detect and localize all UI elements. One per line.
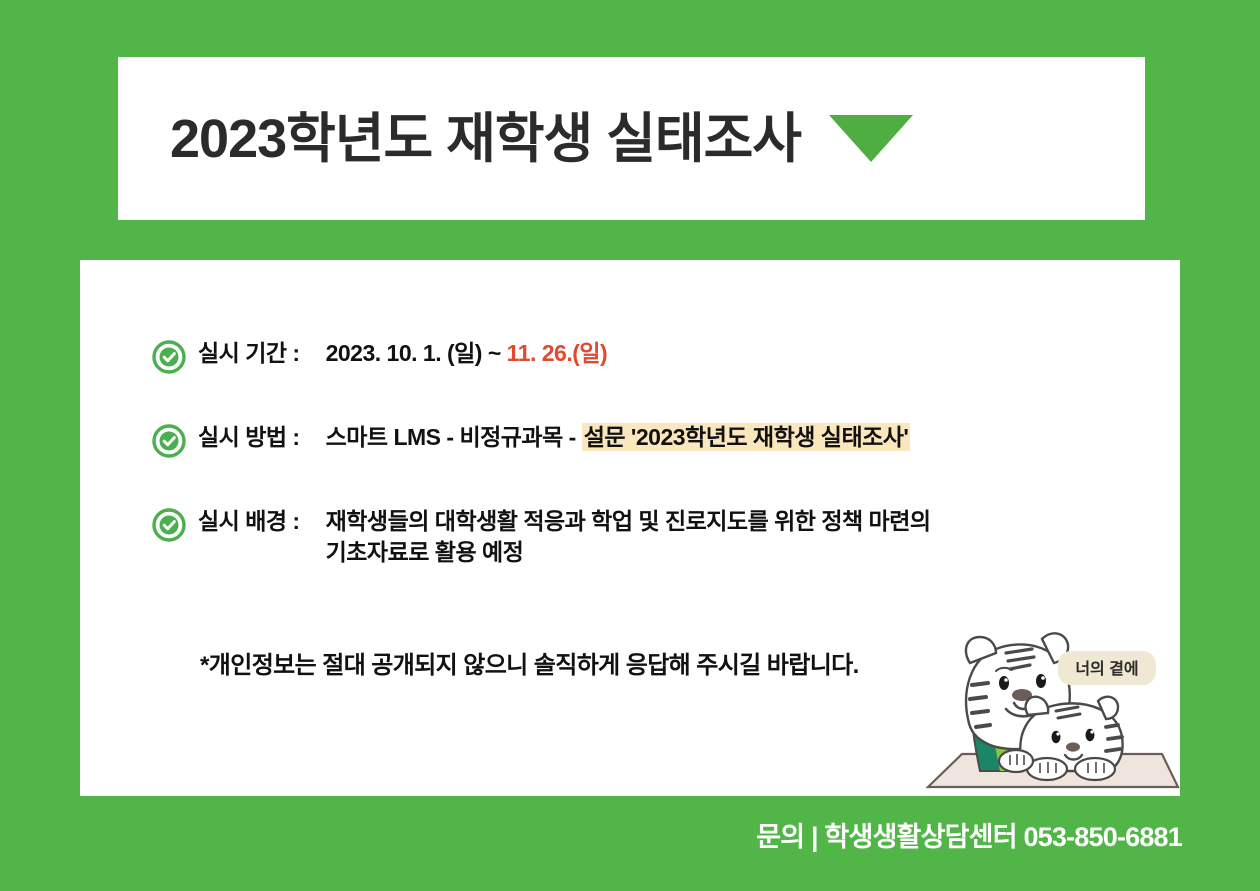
background-line-2: 기초자료로 활용 예정 bbox=[326, 537, 931, 568]
info-row-label: 실시 배경 : bbox=[198, 506, 300, 537]
page-title: 2023학년도 재학생 실태조사 bbox=[170, 112, 801, 166]
poster-root: { "colors": { "background_green": "#52b5… bbox=[0, 0, 1260, 891]
method-survey-name: 설문 '2023학년도 재학생 실태조사' bbox=[582, 423, 911, 451]
period-end-text: 11. 26.(일) bbox=[507, 340, 608, 366]
speech-bubble-text: 너의 곁에 bbox=[1075, 660, 1138, 678]
triangle-down-icon bbox=[829, 115, 913, 162]
info-row-list: 실시 기간 : 2023. 10. 1. (일) ~ 11. 26.(일) 실시… bbox=[152, 338, 1152, 616]
main-content-panel: 실시 기간 : 2023. 10. 1. (일) ~ 11. 26.(일) 실시… bbox=[80, 260, 1180, 796]
check-circle-icon bbox=[152, 508, 186, 542]
info-row-label: 실시 방법 : bbox=[198, 422, 300, 453]
background-line-1: 재학생들의 대학생활 적응과 학업 및 진로지도를 위한 정책 마련의 bbox=[326, 506, 931, 537]
contact-footer: 문의 | 학생생활상담센터 053-850-6881 bbox=[756, 815, 1182, 854]
check-circle-icon bbox=[152, 424, 186, 458]
title-panel: 2023학년도 재학생 실태조사 bbox=[118, 57, 1145, 220]
info-row-period: 실시 기간 : 2023. 10. 1. (일) ~ 11. 26.(일) bbox=[152, 338, 1152, 374]
info-row-value: 스마트 LMS - 비정규과목 - 설문 '2023학년도 재학생 실태조사' bbox=[326, 422, 911, 453]
info-row-value: 2023. 10. 1. (일) ~ 11. 26.(일) bbox=[326, 338, 608, 369]
info-row-label: 실시 기간 : bbox=[198, 338, 300, 369]
check-circle-icon bbox=[152, 340, 186, 374]
info-row-method: 실시 방법 : 스마트 LMS - 비정규과목 - 설문 '2023학년도 재학… bbox=[152, 422, 1152, 458]
period-start-text: 2023. 10. 1. (일) ~ bbox=[326, 340, 507, 366]
tiger-mascot-illustration: 너의 곁에 bbox=[910, 611, 1180, 796]
info-row-background: 실시 배경 : 재학생들의 대학생활 적응과 학업 및 진로지도를 위한 정책 … bbox=[152, 506, 1152, 568]
method-path-text: 스마트 LMS - 비정규과목 - bbox=[326, 424, 582, 450]
info-row-value: 재학생들의 대학생활 적응과 학업 및 진로지도를 위한 정책 마련의 기초자료… bbox=[326, 506, 931, 568]
privacy-note: *개인정보는 절대 공개되지 않으니 솔직하게 응답해 주시길 바랍니다. bbox=[200, 645, 859, 680]
